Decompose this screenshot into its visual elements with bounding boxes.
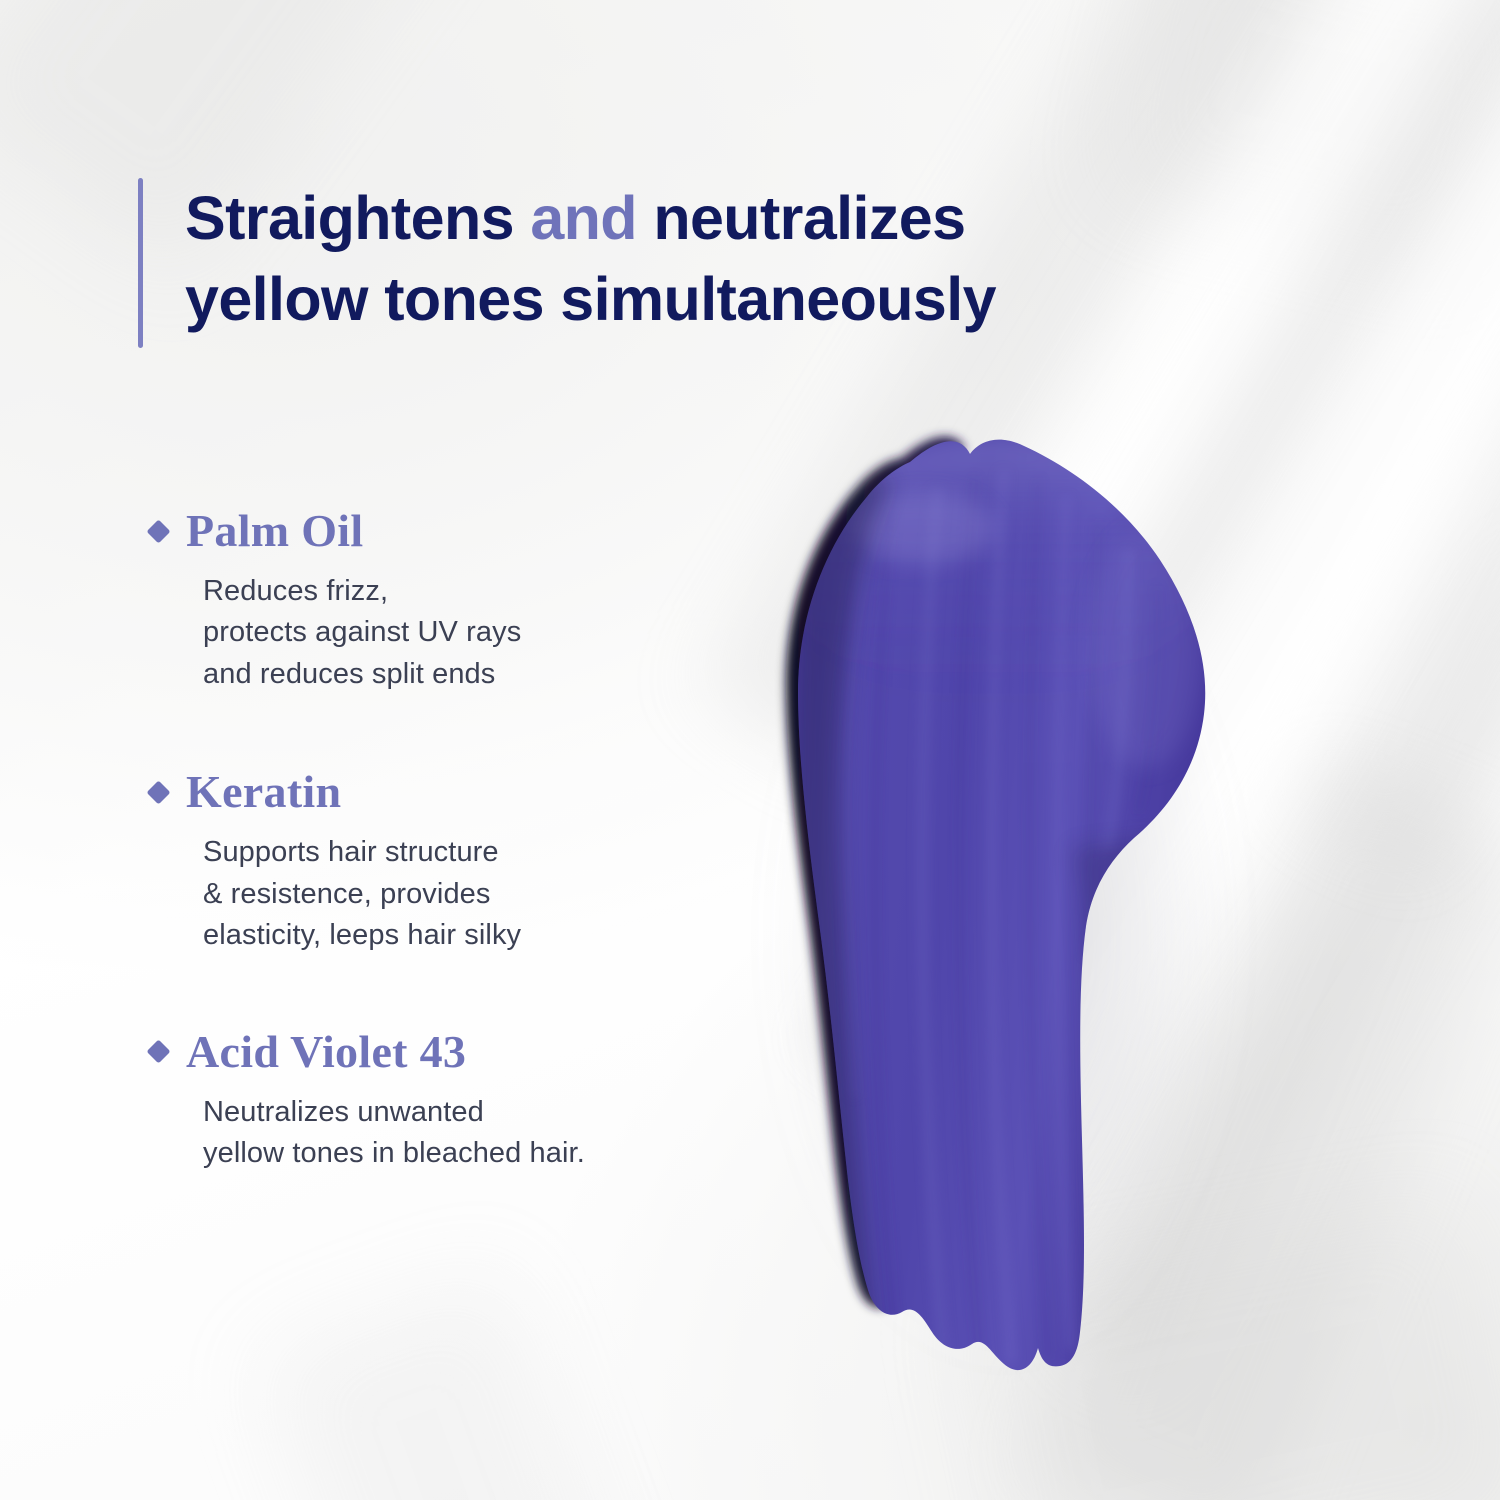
ingredient-name: Acid Violet 43: [186, 1029, 466, 1075]
headline-line-2: yellow tones simultaneously: [185, 265, 996, 333]
list-item: Acid Violet 43 Neutralizes unwanted yell…: [150, 1029, 730, 1175]
ingredient-description: Neutralizes unwanted yellow tones in ble…: [203, 1092, 730, 1175]
violet-paint-swatch: [742, 418, 1262, 1408]
list-item: Palm Oil Reduces frizz, protects against…: [150, 508, 730, 695]
ingredient-list: Palm Oil Reduces frizz, protects against…: [150, 508, 730, 1175]
infographic-canvas: Straightens and neutralizes yellow tones…: [0, 0, 1500, 1500]
diamond-bullet-icon: [146, 1040, 170, 1064]
ingredient-description: Reduces frizz, protects against UV rays …: [203, 571, 730, 695]
ingredient-name: Keratin: [186, 769, 341, 815]
diamond-bullet-icon: [146, 780, 170, 804]
page-title: Straightens and neutralizes yellow tones…: [185, 178, 996, 348]
headline-accent-bar: [138, 178, 143, 348]
headline-segment-2: neutralizes: [637, 184, 965, 252]
ingredient-description: Supports hair structure & resistence, pr…: [203, 832, 730, 956]
list-item: Keratin Supports hair structure & resist…: [150, 769, 730, 956]
headline-segment-1: Straightens: [185, 184, 530, 252]
headline-segment-and: and: [530, 184, 637, 252]
diamond-bullet-icon: [146, 519, 170, 543]
headline-block: Straightens and neutralizes yellow tones…: [138, 178, 996, 348]
ingredient-heading: Acid Violet 43: [150, 1029, 730, 1075]
ingredient-heading: Palm Oil: [150, 508, 730, 554]
ingredient-name: Palm Oil: [186, 508, 363, 554]
ingredient-heading: Keratin: [150, 769, 730, 815]
